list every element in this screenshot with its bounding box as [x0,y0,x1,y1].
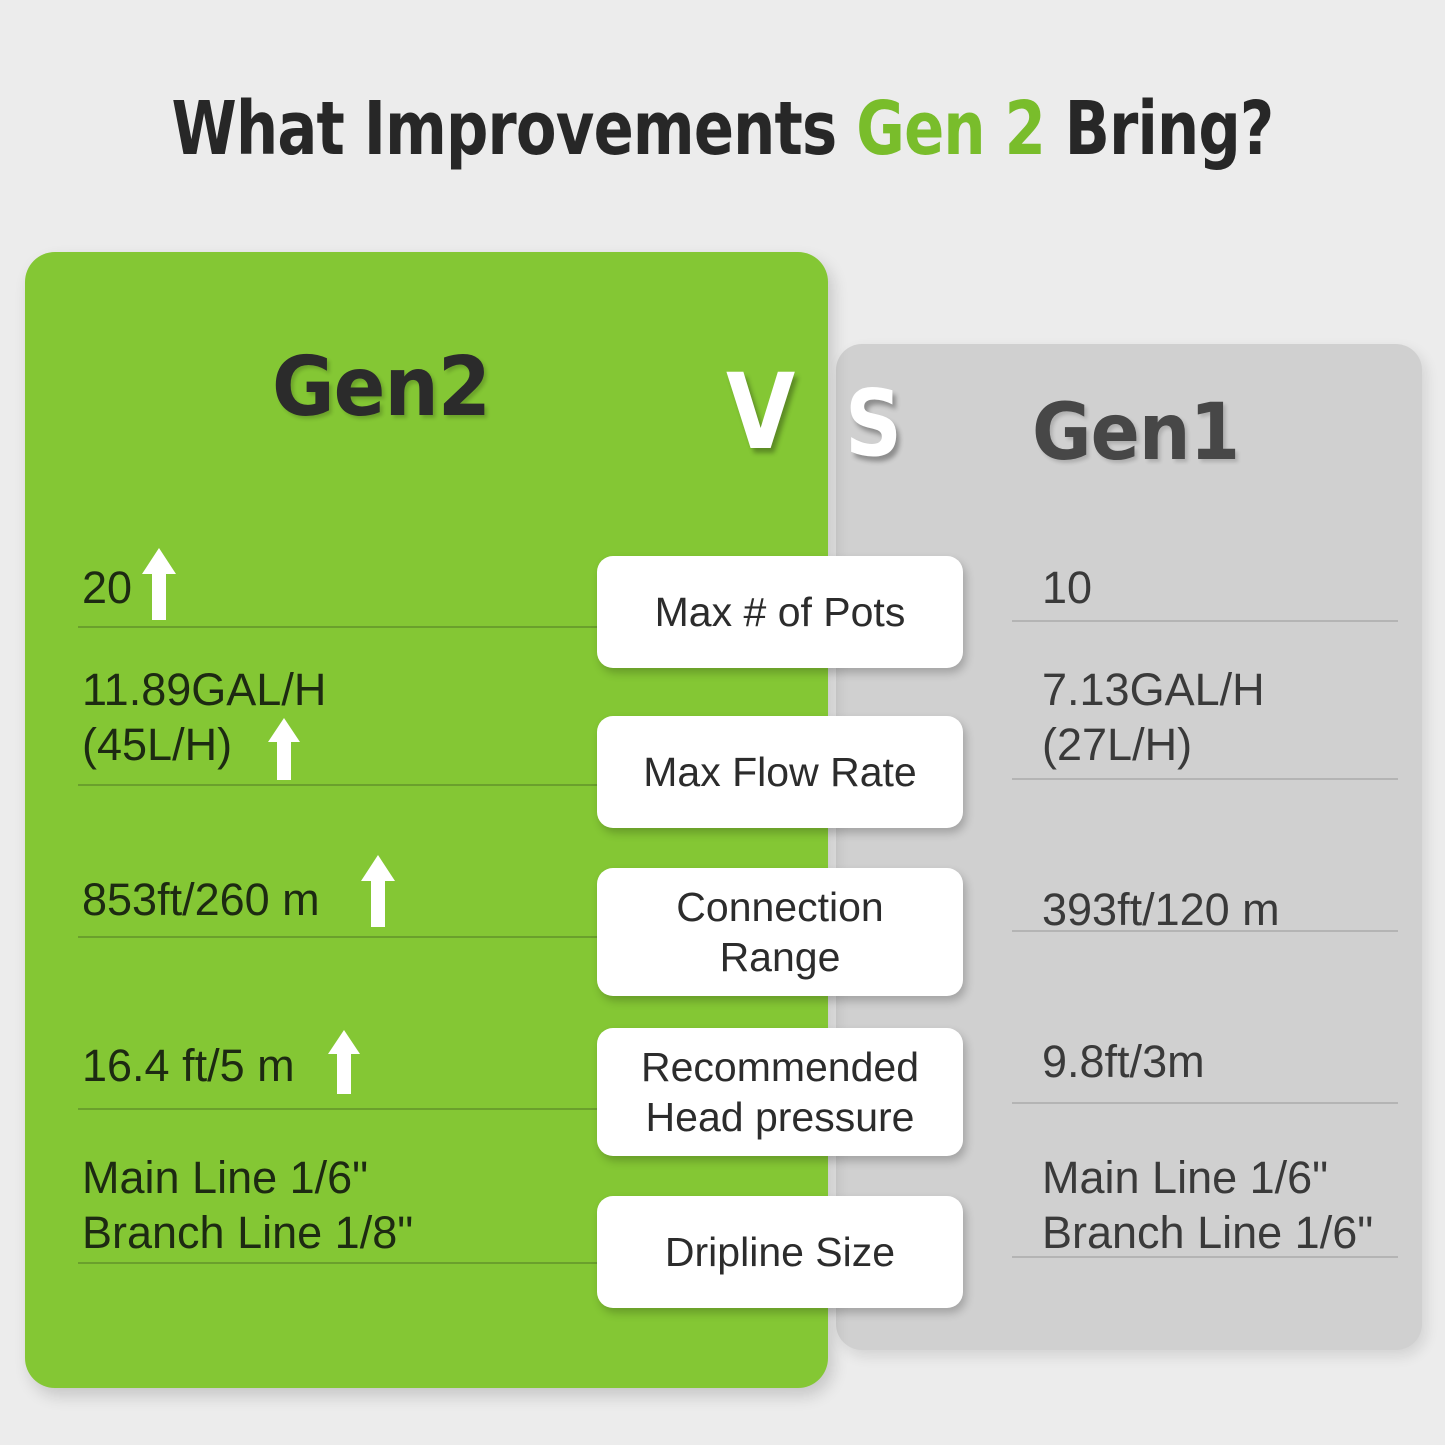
feature-card-max-flow-rate: Max Flow Rate [597,716,963,828]
feature-label: Dripline Size [665,1227,895,1277]
feature-label: Connection Range [676,882,883,982]
versus-letter-v: V [726,360,795,464]
comparison-infographic: What Improvements Gen 2 Bring? Gen2 V S … [0,0,1445,1445]
gen1-value-connection-range: 393ft/120 m [1042,882,1280,937]
up-arrow-icon [267,718,301,780]
gen1-value-max-flow-rate: 7.13GAL/H (27L/H) [1042,662,1265,772]
feature-card-head-pressure: Recommended Head pressure [597,1028,963,1156]
title-suffix: Bring? [1045,86,1273,172]
feature-card-connection-range: Connection Range [597,868,963,996]
feature-card-max-pots: Max # of Pots [597,556,963,668]
row-separator [1012,930,1398,932]
gen1-heading: Gen1 [1032,388,1239,478]
up-arrow-icon [141,548,177,620]
gen1-value-max-pots: 10 [1042,560,1092,615]
row-separator [1012,1256,1398,1258]
row-separator [1012,1102,1398,1104]
up-arrow-icon [327,1030,361,1094]
versus-letter-s: S [845,378,902,470]
row-separator [1012,778,1398,780]
row-separator [1012,620,1398,622]
title-highlight: Gen 2 [856,86,1045,172]
feature-label: Max # of Pots [655,587,906,637]
gen2-heading: Gen2 [272,340,490,435]
up-arrow-icon [360,855,396,927]
feature-label: Recommended Head pressure [641,1042,919,1142]
title-prefix: What Improvements [172,86,857,172]
gen2-value-max-pots: 20 [82,560,132,615]
gen2-value-head-pressure: 16.4 ft/5 m [82,1038,295,1093]
page-title: What Improvements Gen 2 Bring? [145,86,1301,172]
feature-card-dripline-size: Dripline Size [597,1196,963,1308]
gen2-value-connection-range: 853ft/260 m [82,872,320,927]
gen1-value-dripline-size: Main Line 1/6" Branch Line 1/6" [1042,1150,1373,1260]
gen1-value-head-pressure: 9.8ft/3m [1042,1034,1205,1089]
feature-label: Max Flow Rate [643,747,916,797]
gen2-value-dripline-size: Main Line 1/6" Branch Line 1/8" [82,1150,413,1260]
